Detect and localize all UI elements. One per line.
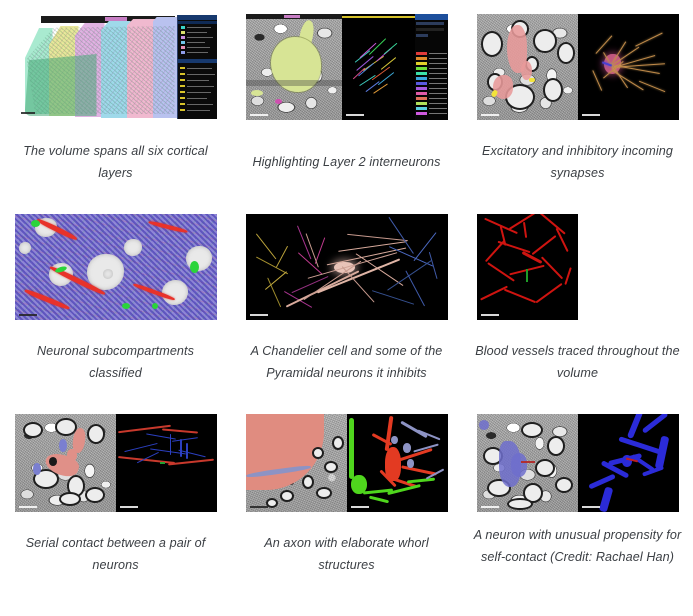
segment-legend-panel[interactable]	[415, 14, 447, 120]
panel-toolbar	[416, 22, 444, 25]
scale-bar	[346, 114, 364, 116]
scale-bar	[351, 506, 369, 508]
segment-swatch[interactable]	[181, 26, 185, 29]
thumbnail-blood-vessels[interactable]	[477, 214, 679, 320]
cortical-layer6-lobe	[25, 54, 97, 116]
gallery-item-caption: Serial contact between a pair of neurons	[11, 532, 221, 576]
scale-bar	[481, 114, 499, 116]
em-panel[interactable]	[246, 14, 343, 120]
scale-bar	[19, 314, 37, 316]
highlighted-process	[251, 90, 263, 96]
gallery-item-cortical-layers[interactable]: The volume spans all six cortical layers	[0, 0, 231, 200]
neuron-a-trace	[162, 428, 198, 434]
neuron-a-trace	[168, 459, 214, 466]
contact-marker	[160, 462, 165, 464]
segmented-neuron[interactable]	[479, 420, 489, 430]
em-panel[interactable]	[246, 414, 347, 512]
gallery-item-serial-contact[interactable]: Serial contact between a pair of neurons	[0, 400, 231, 616]
classified-dendrite	[122, 303, 130, 309]
layer2-interneurons-figure	[246, 14, 448, 120]
neuron-a-segment[interactable]	[67, 449, 77, 461]
scale-bar	[120, 506, 138, 508]
scale-bar	[481, 314, 499, 316]
layer-label	[187, 110, 210, 111]
gallery-item-caption: A Chandelier cell and some of the Pyrami…	[242, 340, 452, 384]
mitochondrion	[49, 457, 57, 466]
layer-key-swatch	[180, 103, 185, 105]
layer-key-swatch	[180, 109, 185, 111]
segment-swatch[interactable]	[181, 46, 185, 49]
layer-label	[187, 68, 212, 69]
em-panel[interactable]	[15, 414, 116, 512]
segment-swatch[interactable]	[181, 36, 185, 39]
blood-vessels-figure	[477, 214, 679, 320]
serial-contact-figure	[15, 414, 217, 512]
gallery-item-subcompartments[interactable]: Neuronal subcompartments classified	[0, 200, 231, 400]
layer-label	[187, 86, 214, 87]
thumbnail-incoming-synapses[interactable]	[477, 14, 679, 120]
classified-dendrite	[152, 303, 158, 309]
em-panel[interactable]	[477, 14, 578, 120]
layer-label	[187, 80, 209, 81]
neuron-b-bouton[interactable]	[33, 463, 41, 475]
neuron-b-bouton[interactable]	[59, 439, 67, 452]
thumbnail-serial-contact[interactable]	[15, 414, 217, 512]
em-tissue-band	[246, 80, 343, 86]
scale-bar	[19, 506, 37, 508]
neuron-b-trace	[172, 438, 198, 443]
gallery-item-caption: Blood vessels traced throughout the volu…	[473, 340, 683, 384]
gallery-item-self-contact[interactable]: A neuron with unusual propensity for sel…	[462, 400, 693, 616]
segmented-dendrite[interactable]	[521, 61, 532, 80]
layer-label	[187, 92, 211, 93]
gallery-item-layer2-interneurons[interactable]: Highlighting Layer 2 interneurons	[231, 0, 462, 200]
thumbnail-cortical-layers[interactable]	[15, 14, 217, 120]
segment-swatch[interactable]	[181, 31, 185, 34]
gallery-item-caption: Neuronal subcompartments classified	[11, 340, 221, 384]
interneuron-skeleton-cloud	[342, 14, 415, 120]
segment-label	[187, 32, 207, 33]
gallery-item-caption: Excitatory and inhibitory incoming synap…	[473, 140, 683, 184]
segment-label	[187, 37, 213, 38]
gallery-item-caption: A neuron with unusual propensity for sel…	[473, 524, 683, 568]
neuron-b-trace	[180, 439, 181, 457]
thumbnail-chandelier-cell[interactable]	[246, 214, 448, 320]
panel-tab-bar	[178, 21, 217, 24]
neuron-b-trace	[146, 433, 176, 440]
gallery-item-caption: The volume spans all six cortical layers	[11, 140, 221, 184]
neuron-b-trace	[186, 443, 187, 459]
scale-bar	[250, 114, 268, 116]
incoming-synapses-figure	[477, 14, 679, 120]
subcompartments-figure	[15, 214, 217, 320]
inhibitory-synapse-marker	[529, 78, 535, 82]
segment-list-panel[interactable]	[177, 15, 217, 119]
chandelier-cell-figure[interactable]	[246, 214, 448, 320]
image-gallery-grid: The volume spans all six cortical layers	[0, 0, 693, 616]
gallery-item-blood-vessels[interactable]: Blood vessels traced throughout the volu…	[462, 200, 693, 400]
render-panel[interactable]	[116, 414, 217, 512]
segment-swatch[interactable]	[181, 41, 185, 44]
render-panel[interactable]	[578, 414, 679, 512]
panel-button[interactable]	[416, 34, 428, 37]
thumbnail-layer2-interneurons[interactable]	[246, 14, 448, 120]
thumbnail-subcompartments[interactable]	[15, 214, 217, 320]
cortical-layers-figure	[15, 14, 217, 120]
segment-label	[187, 27, 211, 28]
layer-key-swatch	[180, 73, 185, 75]
layer-label	[187, 98, 207, 99]
layer-key-swatch	[180, 85, 185, 87]
scale-bar	[582, 114, 600, 116]
scale-bar	[250, 506, 268, 508]
gallery-item-chandelier-cell[interactable]: A Chandelier cell and some of the Pyrami…	[231, 200, 462, 400]
render-panel[interactable]	[342, 14, 415, 120]
scale-bar	[21, 112, 35, 114]
gallery-item-caption: Highlighting Layer 2 interneurons	[242, 151, 452, 173]
self-contact-figure	[477, 414, 679, 512]
scale-bar	[250, 314, 268, 316]
segmented-neuron[interactable]	[511, 453, 527, 477]
render-panel[interactable]	[578, 14, 679, 120]
scale-bar	[481, 506, 499, 508]
panel-title-bar	[178, 15, 217, 20]
panel-title-bar	[415, 14, 447, 20]
gallery-item-incoming-synapses[interactable]: Excitatory and inhibitory incoming synap…	[462, 0, 693, 200]
layer-key-swatch	[180, 97, 185, 99]
classified-dendrite	[190, 261, 199, 273]
layer-key-swatch	[180, 79, 185, 81]
gallery-item-caption: An axon with elaborate whorl structures	[242, 532, 452, 576]
unclassified-region	[19, 242, 31, 255]
gallery-item-axon-whorl[interactable]: An axon with elaborate whorl structures	[231, 400, 462, 616]
layer-key-swatch	[180, 67, 185, 69]
panel-search-field[interactable]	[416, 28, 444, 31]
segment-label	[187, 42, 205, 43]
layer-label	[187, 104, 213, 105]
render-panel[interactable]	[347, 414, 448, 512]
scale-bar	[582, 506, 600, 508]
toolbar-accent	[284, 15, 300, 18]
panel-section-header	[178, 59, 217, 63]
em-panel[interactable]	[477, 414, 578, 512]
axon-whorl-figure	[246, 414, 448, 512]
render-panel[interactable]	[477, 214, 578, 320]
thumbnail-self-contact[interactable]	[477, 414, 679, 512]
thumbnail-axon-whorl[interactable]	[246, 414, 448, 512]
layer-label	[187, 74, 215, 75]
segment-label	[187, 47, 210, 48]
segment-swatch[interactable]	[181, 51, 185, 54]
segment-label	[187, 52, 208, 53]
layer-key-swatch	[180, 91, 185, 93]
highlighted-vessel-branch	[526, 269, 528, 282]
highlighted-process	[275, 99, 282, 104]
self-contact-marker	[521, 461, 535, 463]
